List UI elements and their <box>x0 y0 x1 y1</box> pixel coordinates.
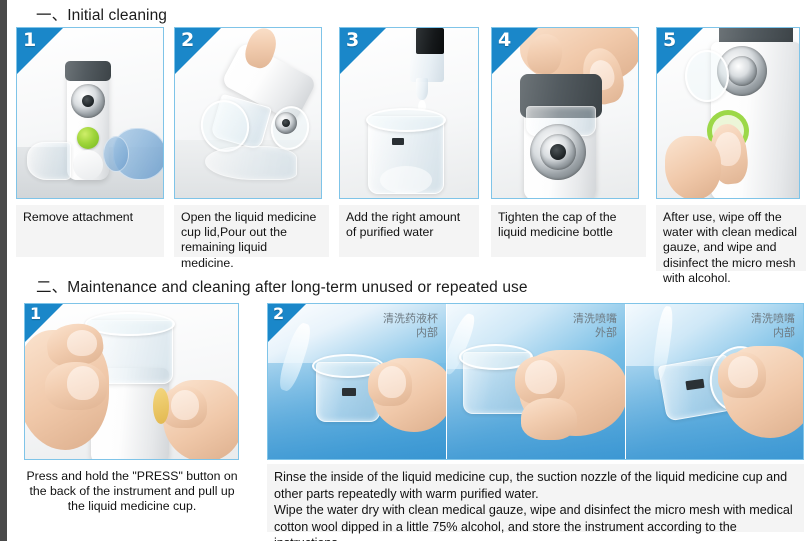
step-photo-rinse-cup-inside: 清洗药液杯 内部 <box>268 304 447 459</box>
step-caption-1-1: Remove attachment <box>16 205 164 257</box>
step-photo-open-cup-lid <box>175 28 321 198</box>
step-panel-2-2: 清洗药液杯 内部 清洗喷嘴 外部 <box>267 303 804 460</box>
photo-label-line2: 外部 <box>573 326 617 340</box>
step-panel-1-1: 1 <box>16 27 164 199</box>
step-photo-wipe-micro-mesh <box>657 28 799 198</box>
instruction-manual-page: 一、Initial cleaning 1 Remove attachment <box>0 0 808 541</box>
step-caption-1-3: Add the right amount of purified water <box>339 205 479 257</box>
step-panel-2-1: 1 <box>24 303 239 460</box>
photo-label-line1: 清洗喷嘴 <box>573 312 617 326</box>
photo-label-line1: 清洗药液杯 <box>383 312 438 326</box>
photo-label-line2: 内部 <box>751 326 795 340</box>
photo-label-line2: 内部 <box>383 326 438 340</box>
step-photo-rinse-nozzle-outside: 清洗喷嘴 外部 <box>447 304 626 459</box>
section-2-title: 二、Maintenance and cleaning after long-te… <box>36 275 528 297</box>
step-caption-2-1: Press and hold the "PRESS" button on the… <box>16 464 248 526</box>
section-2-marker: 二、 <box>36 279 67 296</box>
step-photo-tighten-cap <box>492 28 638 198</box>
section-1-title-text: Initial cleaning <box>67 7 167 24</box>
step-caption-2-2: Rinse the inside of the liquid medicine … <box>267 464 804 532</box>
step-caption-1-2: Open the liquid medicine cup lid,Pour ou… <box>174 205 329 257</box>
photo-label-line1: 清洗喷嘴 <box>751 312 795 326</box>
step-photo-remove-attachment <box>17 28 163 198</box>
step-photo-press-button-pull-cup <box>25 304 238 459</box>
step-caption-1-4: Tighten the cap of the liquid medicine b… <box>491 205 646 257</box>
step-panel-1-2: 2 <box>174 27 322 199</box>
section-2-title-text: Maintenance and cleaning after long-term… <box>67 279 527 296</box>
step-photo-add-purified-water <box>340 28 478 198</box>
step-caption-1-5: After use, wipe off the water with clean… <box>656 205 806 271</box>
section-1-title: 一、Initial cleaning <box>36 3 167 25</box>
step-panel-1-5: 5 <box>656 27 800 199</box>
left-edge-bar <box>0 0 7 541</box>
step-photo-rinse-nozzle-inside: 清洗喷嘴 内部 <box>626 304 803 459</box>
section-1-marker: 一、 <box>36 7 67 24</box>
step-panel-1-4: 4 <box>491 27 639 199</box>
step-panel-1-3: 3 <box>339 27 479 199</box>
